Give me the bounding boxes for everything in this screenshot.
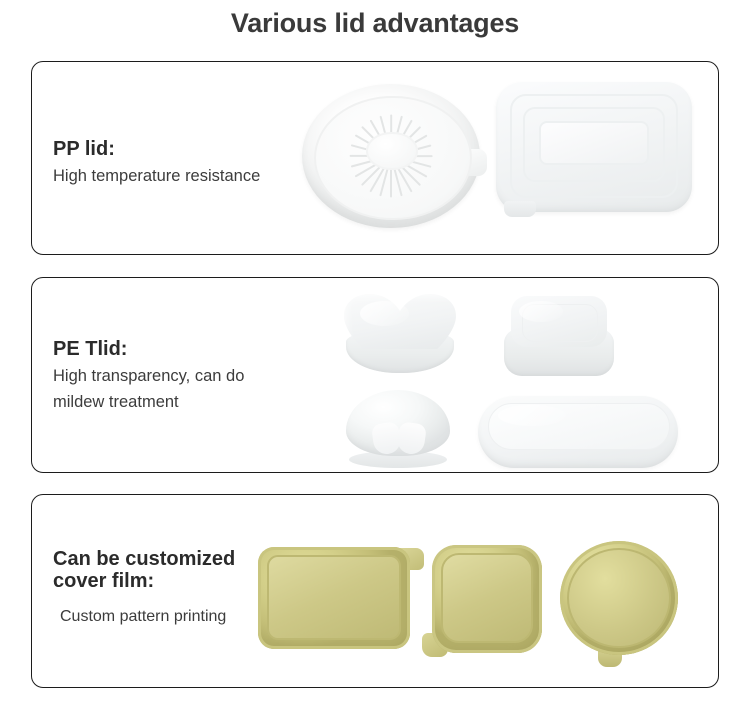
gold-rectangular-cover-film-image [258, 547, 410, 649]
round-dome-lid-image [346, 390, 450, 468]
lid-ring-inner [539, 121, 649, 165]
film-inner-panel [441, 553, 533, 644]
round-ribbed-pp-lid-image [302, 84, 480, 228]
panel-pe-tlid-products [318, 278, 718, 472]
square-dome-lid-image [504, 296, 614, 378]
panel-pp-lid: PP lid: High temperature resistance [31, 61, 719, 255]
rectangular-pp-lid-image [496, 82, 692, 212]
panel-pe-tlid-text: PE Tlid: High transparency, can do milde… [53, 338, 338, 416]
panel-pe-tlid: PE Tlid: High transparency, can do milde… [31, 277, 719, 473]
lid-notch [504, 201, 536, 217]
heart-shaped-dome-lid-image [344, 294, 456, 378]
panel-cover-film-products [248, 495, 718, 687]
lid-gloss [360, 301, 409, 326]
panel-pe-tlid-heading: PE Tlid: [53, 338, 338, 360]
panel-pe-tlid-description: High transparency, can do mildew treatme… [53, 364, 338, 415]
film-inner-panel [567, 548, 671, 648]
film-inner-panel [267, 555, 401, 640]
panel-cover-film: Can be customized cover film: Custom pat… [31, 494, 719, 688]
infographic-page: Various lid advantages PP lid: High temp… [0, 0, 750, 713]
gold-square-cover-film-image [432, 545, 542, 653]
oval-flat-lid-image [478, 396, 678, 468]
lid-gloss [498, 405, 566, 427]
lid-center-hub [366, 132, 418, 171]
gold-round-cover-film-image [560, 541, 678, 655]
panel-pp-lid-products [288, 62, 718, 254]
page-title: Various lid advantages [0, 8, 750, 39]
